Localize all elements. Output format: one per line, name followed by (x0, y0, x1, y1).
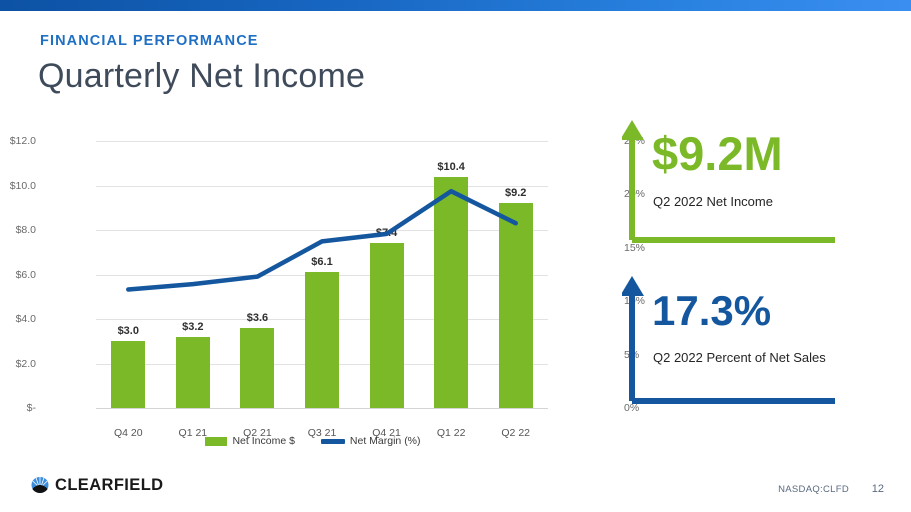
legend-swatch-icon (205, 437, 227, 446)
top-accent-bar (0, 0, 911, 11)
net-income-chart: $-$2.0$4.0$6.0$8.0$10.0$12.00%5%10%15%20… (28, 128, 598, 428)
legend-item-net-margin: Net Margin (%) (321, 435, 421, 447)
stock-ticker: NASDAQ:CLFD (778, 484, 849, 495)
net-margin-line[interactable] (128, 191, 515, 289)
callout-net-income: $9.2M Q2 2022 Net Income (622, 112, 902, 252)
y-axis-tick-label: $- (0, 402, 36, 414)
y-axis-tick-label: $10.0 (0, 180, 36, 192)
page-title: Quarterly Net Income (38, 57, 365, 96)
legend-label-net-margin: Net Margin (%) (350, 435, 421, 447)
shell-mark-icon (30, 475, 50, 495)
section-eyebrow: FINANCIAL PERFORMANCE (40, 33, 259, 49)
legend-label-net-income: Net Income $ (232, 435, 294, 447)
y-axis-tick-label: $12.0 (0, 135, 36, 147)
legend-line-icon (321, 439, 345, 444)
callout-caption: Q2 2022 Percent of Net Sales (653, 350, 826, 365)
callout-net-margin: 17.3% Q2 2022 Percent of Net Sales (622, 268, 902, 413)
callout-value: 17.3% (652, 290, 771, 332)
legend-item-net-income: Net Income $ (205, 435, 294, 447)
y-axis-tick-label: $8.0 (0, 224, 36, 236)
page-number: 12 (872, 483, 884, 495)
company-logo: CLEARFIELD (30, 475, 164, 495)
slide: FINANCIAL PERFORMANCE Quarterly Net Inco… (0, 0, 911, 512)
y-axis-tick-label: $2.0 (0, 358, 36, 370)
callout-caption: Q2 2022 Net Income (653, 194, 773, 209)
callout-value: $9.2M (652, 130, 783, 177)
chart-gridline (96, 408, 548, 409)
y-axis-tick-label: $4.0 (0, 313, 36, 325)
net-margin-line-series (96, 141, 548, 408)
chart-legend: Net Income $ Net Margin (%) (28, 435, 598, 447)
y-axis-tick-label: $6.0 (0, 269, 36, 281)
logo-text: CLEARFIELD (55, 476, 164, 495)
